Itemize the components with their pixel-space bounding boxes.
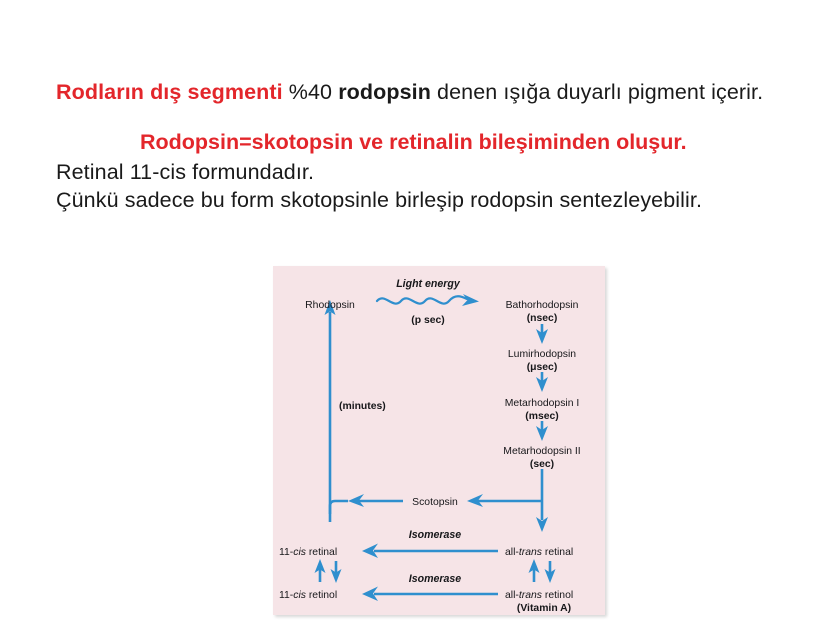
meta2-split-junction: [467, 469, 542, 507]
paragraph-rodopsin-equation: Rodopsin=skotopsin ve retinalin bileşimi…: [56, 128, 786, 156]
rhodopsin-cycle-diagram-panel: Rhodopsin Light energy (p sec) Bathorhod…: [273, 266, 605, 615]
label-metarhodopsin-2: Metarhodopsin II: [503, 446, 580, 457]
text-percent-40: %40: [283, 80, 338, 104]
label-all-trans-retinal: all-trans retinal: [505, 547, 573, 558]
label-all-trans-retinol-prefix: all-: [505, 590, 519, 601]
label-scotopsin: Scotopsin: [412, 497, 458, 508]
bold-word-rodopsin: rodopsin: [338, 80, 431, 104]
label-isomerase-lower: Isomerase: [409, 573, 462, 585]
label-11-cis-retinol-prefix: 11-: [279, 590, 293, 601]
light-energy-wave-arrow: [377, 294, 479, 306]
label-metarhodopsin-1: Metarhodopsin I: [505, 398, 580, 409]
label-all-trans-retinal-suffix: retinal: [542, 547, 573, 558]
label-isomerase-upper: Isomerase: [409, 529, 462, 541]
label-bathorhodopsin-time: (nsec): [527, 313, 558, 324]
label-lumirhodopsin-time: (μsec): [527, 362, 558, 373]
label-rhodopsin: Rhodopsin: [305, 300, 355, 311]
label-all-trans-retinol-italic: trans: [519, 590, 542, 601]
label-lumirhodopsin: Lumirhodopsin: [508, 349, 576, 360]
minutes-return-arrow: [325, 300, 336, 522]
slide-text-block: Rodların dış segmenti %40 rodopsin denen…: [56, 78, 786, 214]
arrow-meta2-to-alltrans-retinal: [536, 501, 548, 532]
text-tail-pigment: denen ışığa duyarlı pigment içerir.: [431, 80, 763, 104]
arrow-isomerase-retinol: [362, 587, 498, 602]
paragraph-rod-outer-segment: Rodların dış segmenti %40 rodopsin denen…: [56, 78, 786, 106]
scotopsin-left-elbow: [330, 501, 348, 514]
label-bathorhodopsin: Bathorhodopsin: [506, 300, 579, 311]
label-all-trans-retinal-italic: trans: [519, 547, 542, 558]
label-all-trans-retinol: all-trans retinol: [505, 590, 573, 601]
label-vitamin-a: (Vitamin A): [517, 603, 571, 614]
label-light-energy-time: (p sec): [411, 315, 445, 326]
label-11-cis-retinal-suffix: retinal: [306, 547, 337, 558]
arrows-trans-retinal-retinol-pair: [529, 559, 556, 583]
arrows-cis-retinal-retinol-pair: [315, 559, 342, 583]
label-all-trans-retinol-suffix: retinol: [542, 590, 573, 601]
label-11-cis-retinal-italic: cis: [293, 547, 306, 558]
label-minutes: (minutes): [339, 401, 386, 412]
arrow-lumi-to-meta1: [536, 372, 548, 392]
label-light-energy: Light energy: [396, 278, 461, 290]
label-metarhodopsin-2-time: (sec): [530, 459, 554, 470]
rhodopsin-cycle-svg: Rhodopsin Light energy (p sec) Bathorhod…: [273, 266, 605, 615]
arrow-meta1-to-meta2: [536, 421, 548, 441]
arrow-isomerase-retinal: [362, 544, 498, 559]
label-11-cis-retinol: 11-cis retinol: [279, 590, 337, 601]
label-metarhodopsin-1-time: (msec): [525, 411, 559, 422]
arrow-batho-to-lumi: [536, 324, 548, 344]
paragraph-cunku-sadece: Çünkü sadece bu form skotopsinle birleşi…: [56, 186, 786, 214]
red-phrase-rodlarin: Rodların dış segmenti: [56, 80, 283, 104]
label-11-cis-retinal: 11-cis retinal: [279, 547, 337, 558]
arrow-scotopsin-to-left: [348, 494, 403, 507]
label-11-cis-retinol-italic: cis: [293, 590, 306, 601]
label-all-trans-retinal-prefix: all-: [505, 547, 519, 558]
label-11-cis-retinol-suffix: retinol: [306, 590, 337, 601]
paragraph-retinal-cis-form: Retinal 11-cis formundadır.: [56, 158, 786, 186]
label-11-cis-retinal-prefix: 11-: [279, 547, 293, 558]
